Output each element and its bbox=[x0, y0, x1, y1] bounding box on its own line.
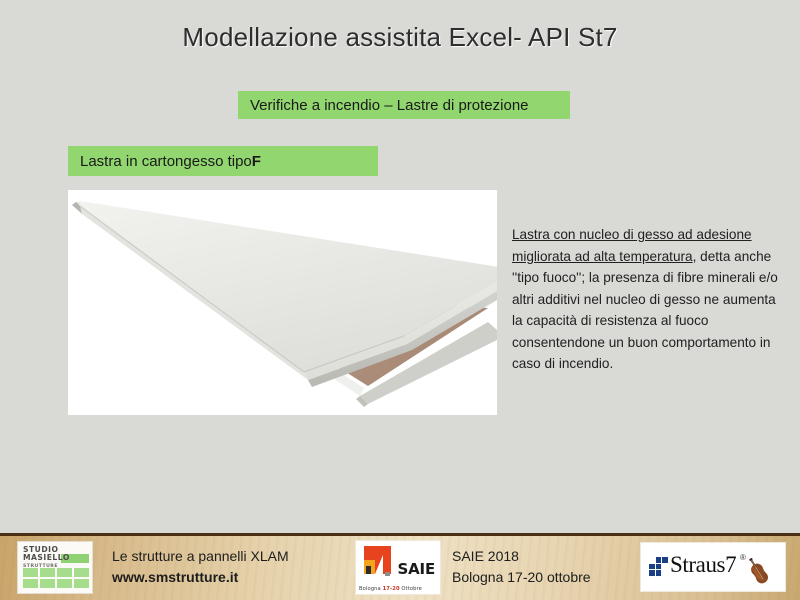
saie-logo-row: SAIE bbox=[359, 543, 437, 579]
plasterboard-photo bbox=[68, 190, 497, 415]
saie-mark-icon bbox=[361, 544, 401, 578]
description-text: Lastra con nucleo di gesso ad adesione m… bbox=[512, 224, 780, 375]
studio-masiello-name-line2: MASIELLO bbox=[23, 554, 70, 562]
footer-event-dates: Bologna 17-20 ottobre bbox=[452, 567, 634, 588]
studio-masiello-name: STUDIO MASIELLO bbox=[23, 546, 70, 562]
block-cell bbox=[662, 570, 668, 576]
grid-cell bbox=[74, 568, 89, 577]
block-cell bbox=[656, 564, 662, 570]
straus7-wordmark: Straus7 bbox=[670, 552, 736, 578]
straus7-logo-inner: Straus7 ® bbox=[641, 543, 785, 591]
grid-cell bbox=[57, 579, 72, 588]
block-cell bbox=[656, 557, 662, 563]
saie-caption-prefix: Bologna bbox=[359, 586, 383, 592]
grid-cell bbox=[23, 568, 38, 577]
grid-cell bbox=[40, 568, 55, 577]
page-title: Modellazione assistita Excel- API St7 bbox=[0, 22, 800, 53]
footer-right-text: SAIE 2018 Bologna 17-20 ottobre bbox=[452, 546, 634, 588]
section-label-text: Lastra in cartongesso tipo bbox=[80, 153, 252, 170]
presentation-slide: Modellazione assistita Excel- API St7 Ve… bbox=[0, 0, 800, 600]
plasterboard-illustration bbox=[68, 190, 497, 415]
saie-caption-dates: 17-20 bbox=[383, 586, 400, 592]
grid-cell bbox=[74, 579, 89, 588]
saie-wordmark: SAIE bbox=[398, 560, 435, 578]
block-cell bbox=[649, 570, 655, 576]
plasterboard-svg bbox=[68, 190, 497, 415]
straus7-blocks-icon bbox=[649, 557, 668, 576]
violin-icon bbox=[742, 555, 780, 589]
footer-event-name: SAIE 2018 bbox=[452, 546, 634, 567]
subtitle-banner-label: Verifiche a incendio – Lastre di protezi… bbox=[250, 97, 529, 114]
subtitle-banner: Verifiche a incendio – Lastre di protezi… bbox=[238, 91, 570, 119]
studio-masiello-logo: STUDIO MASIELLO STRUTTURE bbox=[17, 541, 93, 594]
section-label-bold: F bbox=[252, 153, 261, 170]
grid-cell bbox=[23, 579, 38, 588]
studio-masiello-wordmark: STUDIO MASIELLO STRUTTURE bbox=[23, 546, 87, 565]
straus7-logo: Straus7 ® bbox=[640, 542, 786, 592]
section-label-banner: Lastra in cartongesso tipo F bbox=[68, 146, 378, 176]
description-rest: , detta anche ''tipo fuoco''; la presenz… bbox=[512, 249, 778, 372]
block-cell bbox=[649, 557, 655, 563]
grid-cell bbox=[40, 579, 55, 588]
footer-tagline: Le strutture a pannelli XLAM bbox=[112, 546, 344, 567]
saie-logo: SAIE Bologna 17-20 Ottobre bbox=[355, 540, 441, 595]
block-cell bbox=[662, 564, 668, 570]
studio-masiello-grid bbox=[23, 568, 89, 588]
grid-cell bbox=[57, 568, 72, 577]
block-cell bbox=[662, 557, 668, 563]
block-cell bbox=[649, 564, 655, 570]
block-cell bbox=[656, 570, 662, 576]
footer-left-text: Le strutture a pannelli XLAM www.smstrut… bbox=[112, 546, 344, 588]
footer-bar: STUDIO MASIELLO STRUTTURE Le strutture a… bbox=[0, 533, 800, 600]
saie-caption-suffix: Ottobre bbox=[400, 586, 422, 592]
saie-caption: Bologna 17-20 Ottobre bbox=[359, 586, 439, 592]
footer-website[interactable]: www.smstrutture.it bbox=[112, 567, 344, 588]
